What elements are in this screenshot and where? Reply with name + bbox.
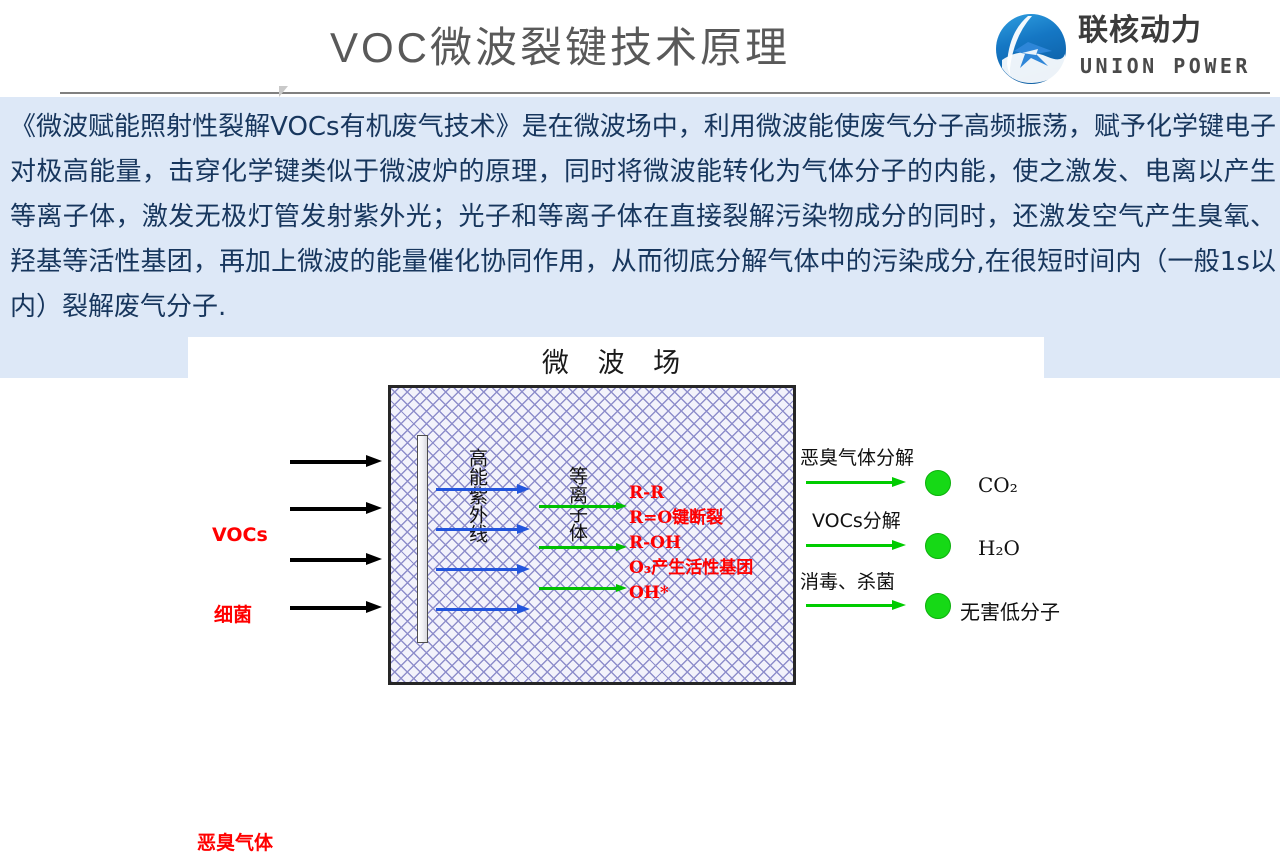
output-product-h2o: H₂O — [978, 536, 1020, 560]
output-dot-1 — [925, 470, 951, 496]
output-dot-3 — [925, 593, 951, 619]
input-label-bacteria: 细菌 — [214, 600, 252, 627]
uv-arrow-1 — [436, 484, 532, 495]
plasma-arrow-1 — [539, 502, 629, 511]
product-line-1: R-R — [629, 481, 753, 506]
logo-name-en: UNION POWER — [1080, 54, 1251, 78]
output-product-co2: CO₂ — [978, 473, 1018, 497]
process-diagram: 恶臭气体 VOCs 细菌 #diagram > .in-label:nth-of… — [0, 378, 1280, 720]
product-line-4: O₃产生活性基团 — [629, 556, 753, 581]
uv-arrow-2 — [436, 524, 532, 535]
input-label-vocs: VOCs — [212, 524, 268, 546]
uv-lamp-tube-icon — [417, 435, 428, 643]
output-label-vocs: VOCs分解 — [812, 506, 901, 533]
output-label-odor: 恶臭气体分解 — [800, 443, 914, 470]
microwave-chamber: 高能紫外线 等离子体 R-R R=O键断裂 R-OH O₃ — [388, 385, 796, 685]
product-line-3: R-OH — [629, 531, 753, 556]
divider-triangle-icon — [279, 86, 288, 97]
product-line-2: R=O键断裂 — [629, 506, 753, 531]
intro-band: 《微波赋能照射性裂解VOCs有机废气技术》是在微波场中，利用微波能使废气分子高频… — [0, 97, 1280, 378]
output-product-harmless: 无害低分子 — [960, 596, 1060, 625]
output-dot-2 — [925, 533, 951, 559]
union-power-globe-logo-icon — [992, 10, 1070, 88]
uv-arrow-3 — [436, 564, 532, 575]
output-label-sterilize: 消毒、杀菌 — [800, 567, 895, 594]
page-header: VOC微波裂键技术原理 联核动力 UNION POWER — [0, 0, 1280, 97]
page-title: VOC微波裂键技术原理 — [250, 22, 870, 74]
uv-arrow-4 — [436, 604, 532, 615]
title-divider — [60, 92, 1270, 94]
output-arrow-3 — [806, 600, 906, 611]
input-arrow-3 — [290, 553, 382, 566]
chamber-products-list: R-R R=O键断裂 R-OH O₃产生活性基团 OH* — [629, 481, 753, 606]
input-arrow-1 — [290, 455, 382, 468]
input-arrow-2 — [290, 502, 382, 515]
output-arrow-2 — [806, 540, 906, 551]
diagram-title: 微 波 场 — [188, 341, 1044, 380]
input-arrow-4 — [290, 601, 382, 614]
input-label-odor: 恶臭气体 — [197, 828, 273, 855]
output-arrow-1 — [806, 477, 906, 488]
plasma-arrow-3 — [539, 584, 629, 593]
intro-paragraph: 《微波赋能照射性裂解VOCs有机废气技术》是在微波场中，利用微波能使废气分子高频… — [10, 105, 1276, 330]
plasma-arrow-2 — [539, 543, 629, 552]
product-line-5: OH* — [629, 581, 753, 606]
company-logo: 联核动力 UNION POWER — [992, 8, 1270, 88]
logo-name-cn: 联核动力 — [1078, 14, 1202, 48]
